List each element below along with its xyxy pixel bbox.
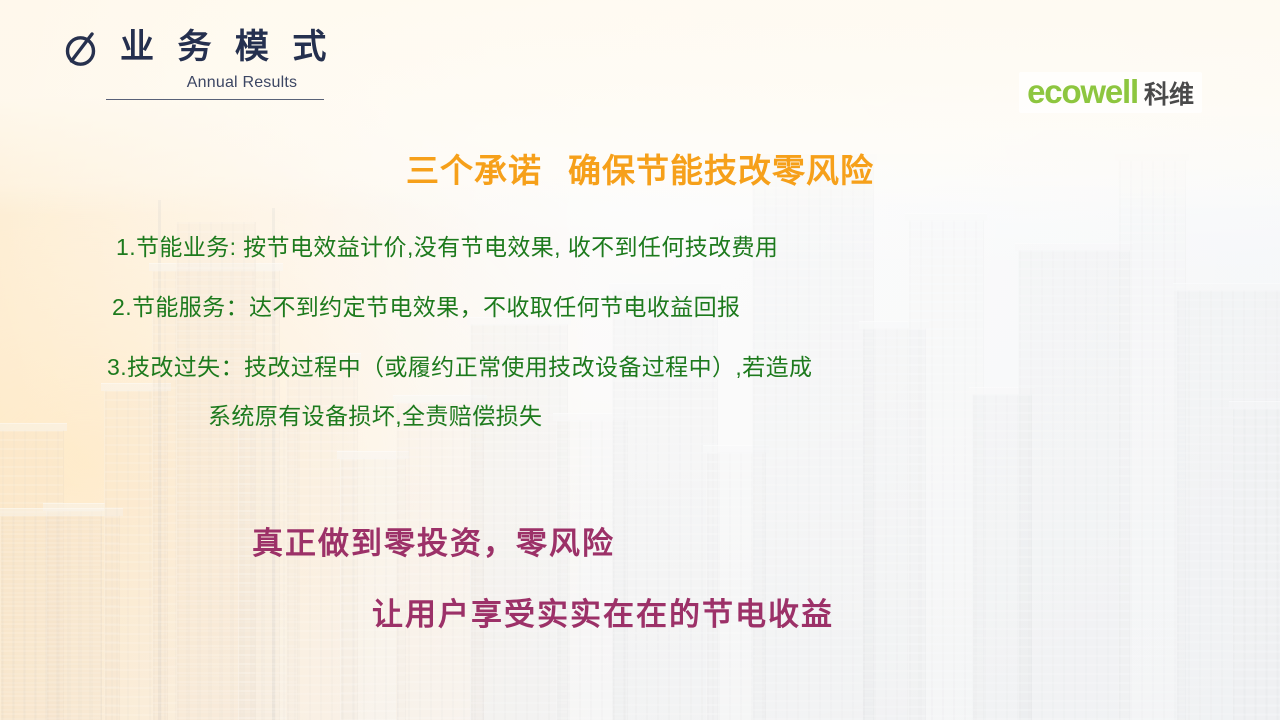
presentation-slide: 业 务 模 式 Annual Results ecowell 科维 三个承诺确保… bbox=[0, 0, 1280, 720]
headline-part-1: 三个承诺 bbox=[406, 152, 542, 189]
page-title: 业 务 模 式 bbox=[120, 30, 333, 66]
list-item: 2.节能服务：达不到约定节电效果，不收取任何节电收益回报 bbox=[112, 296, 1280, 319]
closing-statement: 真正做到零投资，零风险 让用户享受实实在在的节电收益 bbox=[0, 528, 1280, 630]
ecowell-logo: ecowell 科维 bbox=[1019, 72, 1202, 113]
null-symbol-icon bbox=[62, 26, 102, 70]
list-item: 3.技改过失：技改过程中（或履约正常使用技改设备过程中）,若造成 bbox=[107, 356, 1280, 379]
header-title-row: 业 务 模 式 bbox=[62, 26, 422, 70]
logo-english-text: ecowell bbox=[1027, 75, 1138, 108]
closing-line-1: 真正做到零投资，零风险 bbox=[252, 528, 1280, 559]
list-item-continuation: 系统原有设备损坏,全责赔偿损失 bbox=[208, 405, 1280, 428]
content-headline: 三个承诺确保节能技改零风险 bbox=[0, 144, 1280, 192]
commitment-list: 1.节能业务: 按节电效益计价,没有节电效果, 收不到任何技改费用 2.节能服务… bbox=[0, 236, 1280, 428]
slide-header: 业 务 模 式 Annual Results bbox=[62, 26, 422, 100]
logo-chinese-text: 科维 bbox=[1144, 83, 1194, 108]
closing-line-2: 让用户享受实实在在的节电收益 bbox=[372, 599, 1280, 630]
list-item: 1.节能业务: 按节电效益计价,没有节电效果, 收不到任何技改费用 bbox=[116, 236, 1280, 259]
headline-part-2: 确保节能技改零风险 bbox=[568, 152, 874, 189]
header-divider bbox=[106, 99, 324, 100]
header-subtitle: Annual Results bbox=[106, 74, 378, 92]
